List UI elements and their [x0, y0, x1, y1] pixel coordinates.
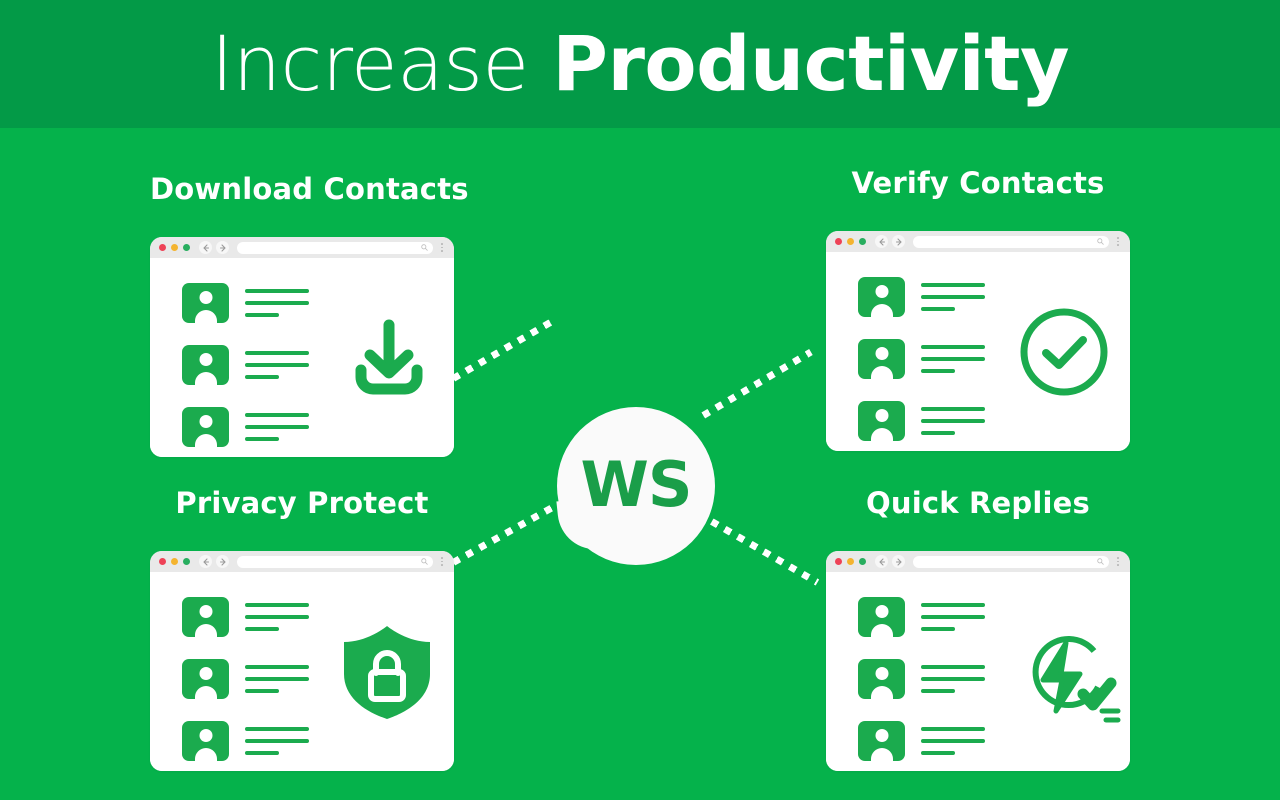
- list-item[interactable]: [858, 401, 985, 441]
- maximize-dot-icon[interactable]: [183, 244, 190, 251]
- panel-title-privacy-protect: Privacy Protect: [150, 486, 454, 520]
- minimize-dot-icon[interactable]: [171, 558, 178, 565]
- connector-top-right: [701, 349, 812, 418]
- contact-text-lines: [245, 413, 309, 441]
- browser-content: [826, 252, 1130, 451]
- person-avatar-icon: [858, 659, 905, 699]
- browser-titlebar: [826, 551, 1130, 572]
- close-dot-icon[interactable]: [159, 244, 166, 251]
- address-bar[interactable]: [237, 556, 433, 568]
- search-icon: [421, 558, 428, 565]
- arrow-left-icon[interactable]: [199, 241, 212, 254]
- shield-lock-icon[interactable]: [340, 622, 434, 722]
- maximize-dot-icon[interactable]: [859, 558, 866, 565]
- person-avatar-icon: [858, 339, 905, 379]
- list-item[interactable]: [858, 721, 985, 761]
- browser-titlebar: [826, 231, 1130, 252]
- address-bar[interactable]: [913, 556, 1109, 568]
- contact-list: [858, 597, 985, 761]
- browser-content: [826, 572, 1130, 771]
- panel-title-verify-contacts: Verify Contacts: [826, 166, 1130, 200]
- list-item[interactable]: [182, 407, 309, 447]
- person-avatar-icon: [182, 597, 229, 637]
- kebab-menu-icon[interactable]: [1113, 557, 1123, 566]
- panel-title-quick-replies: Quick Replies: [826, 486, 1130, 520]
- maximize-dot-icon[interactable]: [859, 238, 866, 245]
- contact-text-lines: [921, 603, 985, 631]
- list-item[interactable]: [182, 283, 309, 323]
- arrow-left-icon[interactable]: [875, 235, 888, 248]
- page-title-bold: Productivity: [552, 19, 1069, 108]
- arrow-left-icon[interactable]: [199, 555, 212, 568]
- list-item[interactable]: [858, 277, 985, 317]
- contact-list: [858, 277, 985, 441]
- traffic-lights: [835, 558, 866, 565]
- traffic-lights: [159, 558, 190, 565]
- close-dot-icon[interactable]: [159, 558, 166, 565]
- contact-text-lines: [245, 665, 309, 693]
- list-item[interactable]: [858, 597, 985, 637]
- download-icon[interactable]: [346, 315, 432, 401]
- kebab-menu-icon[interactable]: [437, 243, 447, 252]
- nav-buttons: [199, 241, 229, 254]
- list-item[interactable]: [858, 659, 985, 699]
- page-title: Increase Productivity: [211, 26, 1069, 102]
- lightning-check-icon[interactable]: [1010, 625, 1122, 725]
- center-logo-bubble[interactable]: WS: [557, 407, 715, 565]
- list-item[interactable]: [858, 339, 985, 379]
- browser-titlebar: [150, 551, 454, 572]
- person-avatar-icon: [182, 407, 229, 447]
- connector-bottom-left: [452, 501, 560, 565]
- connector-top-left: [452, 317, 557, 382]
- close-dot-icon[interactable]: [835, 238, 842, 245]
- address-bar[interactable]: [237, 242, 433, 254]
- browser-window-verify-contacts[interactable]: [826, 231, 1130, 451]
- contact-text-lines: [245, 351, 309, 379]
- list-item[interactable]: [182, 659, 309, 699]
- header-band: Increase Productivity: [0, 0, 1280, 128]
- contact-list: [182, 283, 309, 447]
- arrow-left-icon[interactable]: [875, 555, 888, 568]
- kebab-menu-icon[interactable]: [1113, 237, 1123, 246]
- person-avatar-icon: [858, 401, 905, 441]
- person-avatar-icon: [182, 345, 229, 385]
- maximize-dot-icon[interactable]: [183, 558, 190, 565]
- nav-buttons: [875, 555, 905, 568]
- browser-titlebar: [150, 237, 454, 258]
- nav-buttons: [199, 555, 229, 568]
- browser-window-privacy-protect[interactable]: [150, 551, 454, 771]
- arrow-right-icon[interactable]: [892, 555, 905, 568]
- kebab-menu-icon[interactable]: [437, 557, 447, 566]
- close-dot-icon[interactable]: [835, 558, 842, 565]
- panel-title-download-contacts: Download Contacts: [150, 172, 454, 206]
- contact-text-lines: [921, 283, 985, 311]
- page-title-light: Increase: [211, 19, 552, 108]
- nav-buttons: [875, 235, 905, 248]
- check-circle-icon[interactable]: [1016, 304, 1112, 400]
- infographic-canvas: Increase Productivity Download Contacts …: [0, 0, 1280, 800]
- minimize-dot-icon[interactable]: [847, 238, 854, 245]
- search-icon: [421, 244, 428, 251]
- list-item[interactable]: [182, 721, 309, 761]
- person-avatar-icon: [858, 277, 905, 317]
- center-logo-text: WS: [557, 407, 715, 565]
- contact-text-lines: [245, 727, 309, 755]
- person-avatar-icon: [858, 597, 905, 637]
- traffic-lights: [159, 244, 190, 251]
- connector-bottom-right: [710, 518, 819, 585]
- contact-text-lines: [245, 603, 309, 631]
- person-avatar-icon: [182, 283, 229, 323]
- contact-list: [182, 597, 309, 761]
- search-icon: [1097, 238, 1104, 245]
- list-item[interactable]: [182, 597, 309, 637]
- minimize-dot-icon[interactable]: [171, 244, 178, 251]
- browser-window-quick-replies[interactable]: [826, 551, 1130, 771]
- minimize-dot-icon[interactable]: [847, 558, 854, 565]
- contact-text-lines: [921, 727, 985, 755]
- person-avatar-icon: [182, 721, 229, 761]
- arrow-right-icon[interactable]: [216, 555, 229, 568]
- arrow-right-icon[interactable]: [216, 241, 229, 254]
- address-bar[interactable]: [913, 236, 1109, 248]
- contact-text-lines: [245, 289, 309, 317]
- person-avatar-icon: [858, 721, 905, 761]
- contact-text-lines: [921, 345, 985, 373]
- search-icon: [1097, 558, 1104, 565]
- contact-text-lines: [921, 407, 985, 435]
- browser-content: [150, 258, 454, 457]
- traffic-lights: [835, 238, 866, 245]
- contact-text-lines: [921, 665, 985, 693]
- person-avatar-icon: [182, 659, 229, 699]
- browser-content: [150, 572, 454, 771]
- list-item[interactable]: [182, 345, 309, 385]
- arrow-right-icon[interactable]: [892, 235, 905, 248]
- browser-window-download-contacts[interactable]: [150, 237, 454, 457]
